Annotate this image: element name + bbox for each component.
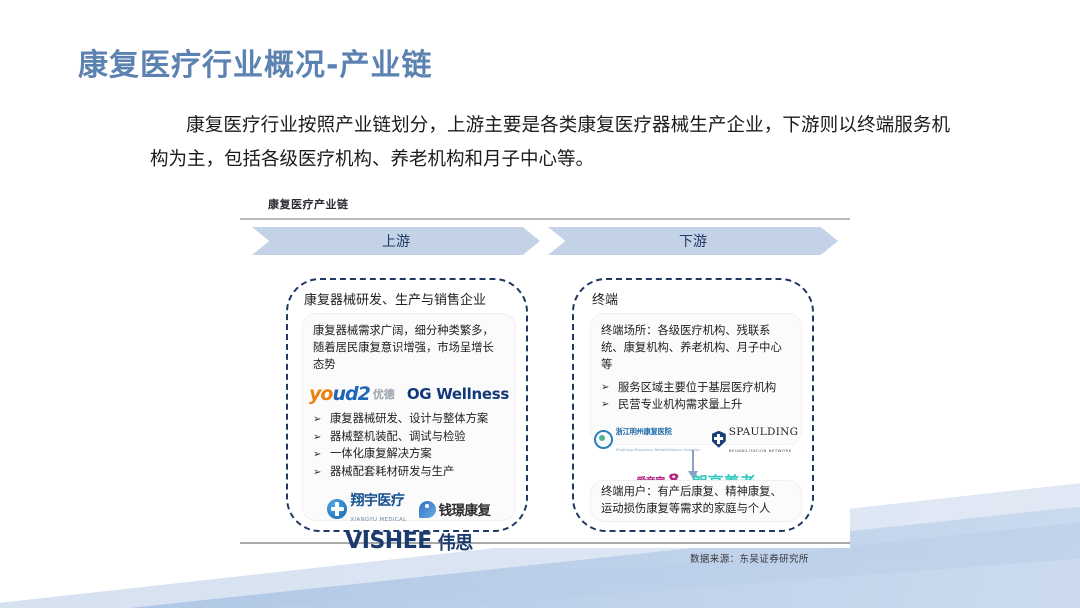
spaulding-logo-name: SPAULDING: [729, 426, 799, 438]
xiangyu-logo-en: XIANGYU MEDICAL: [350, 517, 406, 523]
mingzhou-hospital-logo: 浙江明州康复医院 Zhejiang Mingzhou Rehabilitatio…: [594, 422, 700, 456]
upstream-logo-row-top: youd2 优德 OG Wellness: [313, 383, 505, 405]
downstream-logo-row-top: 浙江明州康复医院 Zhejiang Mingzhou Rehabilitatio…: [601, 422, 791, 457]
panel-upstream: 康复器械研发、生产与销售企业 康复器械需求广阔，细分种类繁多，随着居民康复意识增…: [286, 278, 528, 532]
panel-downstream-intro: 终端场所：各级医疗机构、残联系统、康复机构、养老机构、月子中心等: [601, 323, 791, 374]
mingzhou-logo-text: 浙江明州康复医院 Zhejiang Mingzhou Rehabilitatio…: [616, 422, 700, 456]
page-title: 康复医疗行业概况-产业链: [78, 40, 432, 84]
xiangyu-medical-logo: 翔宇医疗 XIANGYU MEDICAL: [327, 493, 406, 526]
list-item: 器械整机装配、调试与检验: [313, 429, 505, 447]
youde-logo: youd2 优德: [309, 383, 395, 405]
panel-downstream-header: 终端: [592, 289, 618, 308]
panel-downstream-card: 终端场所：各级医疗机构、残联系统、康复机构、养老机构、月子中心等 服务区域主要位…: [590, 313, 802, 445]
spaulding-logo: SPAULDING REHABILITATION NETWORK: [712, 422, 799, 457]
list-item: 一体化康复解决方案: [313, 446, 505, 464]
vishee-logo-en: VISHEE: [345, 529, 432, 554]
stage-label-upstream: 上游: [382, 231, 410, 251]
xiangyu-logo-text: 翔宇医疗 XIANGYU MEDICAL: [350, 493, 406, 526]
mingzhou-mark-icon: [594, 430, 613, 449]
flow-down-arrow-icon: [692, 450, 694, 472]
panel-upstream-header: 康复器械研发、生产与销售企业: [304, 289, 486, 308]
panel-upstream-card: 康复器械需求广阔，细分种类繁多，随着居民康复意识增强，市场呈增长态势 youd2…: [302, 313, 516, 521]
panel-downstream-end-user-card: 终端用户：有产后康复、精神康复、运动损伤康复等需求的家庭与个人: [590, 480, 802, 522]
list-item: 民营专业机构需求量上升: [601, 397, 791, 414]
og-wellness-logo-text: OG Wellness: [407, 385, 509, 403]
upstream-logo-row-bottom: VISHEE 伟思: [313, 529, 505, 555]
mingzhou-logo-cn: 浙江明州康复医院: [616, 427, 672, 436]
chart-title: 康复医疗产业链: [268, 196, 349, 212]
list-item: 服务区域主要位于基层医疗机构: [601, 380, 791, 397]
stage-arrow-upstream: 上游: [252, 227, 540, 255]
youde-logo-sub: 优德: [373, 386, 395, 402]
end-user-text: 终端用户：有产后康复、精神康复、运动损伤康复等需求的家庭与个人: [601, 484, 791, 518]
upstream-logo-row-mid: 翔宇医疗 XIANGYU MEDICAL 钱璟康复: [313, 493, 505, 526]
stage-label-downstream: 下游: [679, 231, 707, 251]
spaulding-logo-sub: REHABILITATION NETWORK: [729, 448, 792, 453]
panel-downstream: 终端 终端场所：各级医疗机构、残联系统、康复机构、养老机构、月子中心等 服务区域…: [572, 278, 814, 532]
qianjing-mark-icon: [419, 501, 436, 518]
og-wellness-logo: OG Wellness: [407, 385, 509, 403]
lead-paragraph-text: 康复医疗行业按照产业链划分，上游主要是各类康复医疗器械生产企业，下游则以终端服务…: [150, 114, 950, 169]
stage-arrow-downstream: 下游: [548, 227, 838, 255]
source-note: 数据来源：东吴证券研究所: [690, 551, 809, 565]
youde-logo-text: youd2: [309, 383, 370, 405]
list-item: 康复器械研发、设计与整体方案: [313, 411, 505, 429]
vishee-logo-cn: 伟思: [438, 529, 473, 555]
chart-top-rule: [240, 218, 850, 220]
list-item: 器械配套耗材研发与生产: [313, 464, 505, 482]
upstream-bullet-list: 康复器械研发、设计与整体方案 器械整机装配、调试与检验 一体化康复解决方案 器械…: [313, 411, 505, 481]
qianjing-logo-cn: 钱璟康复: [439, 499, 491, 519]
xiangyu-logo-cn: 翔宇医疗: [350, 492, 404, 508]
panel-upstream-intro: 康复器械需求广阔，细分种类繁多，随着居民康复意识增强，市场呈增长态势: [313, 323, 505, 374]
mingzhou-logo-en: Zhejiang Mingzhou Rehabilitation Hospita…: [616, 448, 700, 452]
spaulding-shield-icon: [712, 431, 726, 448]
downstream-bullet-list: 服务区域主要位于基层医疗机构 民营专业机构需求量上升: [601, 380, 791, 413]
lead-paragraph: 康复医疗行业按照产业链划分，上游主要是各类康复医疗器械生产企业，下游则以终端服务…: [150, 108, 950, 176]
slide: 康复医疗行业概况-产业链 康复医疗行业按照产业链划分，上游主要是各类康复医疗器械…: [0, 0, 1080, 608]
spaulding-logo-text: SPAULDING REHABILITATION NETWORK: [729, 422, 799, 457]
vishee-logo: VISHEE 伟思: [345, 529, 473, 555]
industry-chain-chart: 康复医疗产业链 上游 下游 康复器械研发、生产与销售企业 康复器械需求广阔，细分…: [240, 196, 850, 548]
xiangyu-cross-icon: [327, 499, 347, 519]
qianjing-rehab-logo: 钱璟康复: [419, 499, 491, 519]
